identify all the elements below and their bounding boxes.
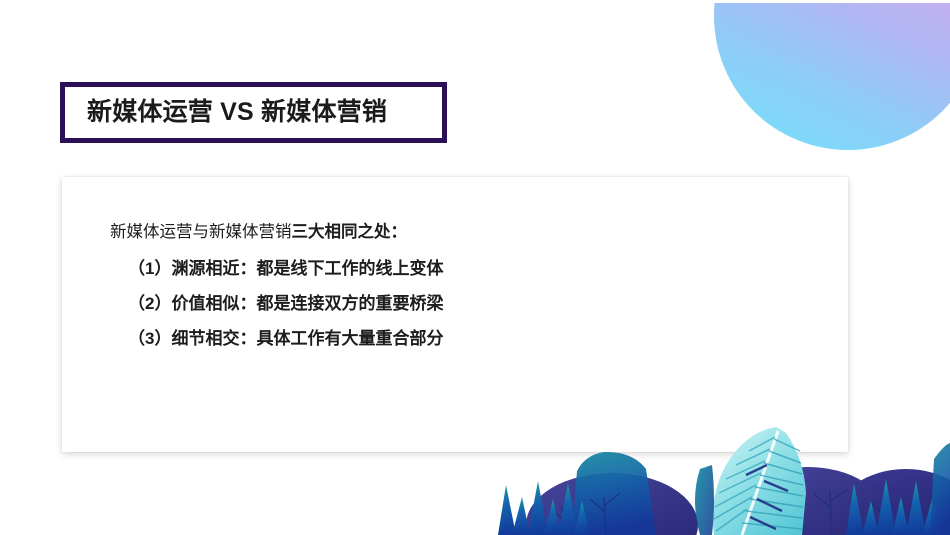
body-text-block: 新媒体运营与新媒体营销三大相同之处： （1）渊源相近：都是线下工作的线上变体 （… (110, 215, 810, 356)
bush-twigs-center (551, 493, 620, 535)
page-title: 新媒体运营 VS 新媒体营销 (87, 95, 422, 129)
content-card: 新媒体运营与新媒体营销三大相同之处： （1）渊源相近：都是线下工作的线上变体 （… (62, 177, 848, 452)
body-item-3: （3）细节相交：具体工作有大量重合部分 (110, 321, 810, 356)
body-lead-emphasis: 三大相同之处： (292, 223, 408, 241)
leaf-blade-left (572, 452, 656, 535)
bush-shape-right (834, 469, 950, 535)
bush-shape-center (526, 473, 698, 535)
grass-cluster-left (498, 481, 590, 535)
gradient-circle-decoration (690, 0, 950, 200)
bush-twigs-right (814, 489, 884, 535)
circle-top-mask (690, 0, 950, 3)
leaf-blade-far-right (930, 443, 950, 535)
body-lead-plain: 新媒体运营与新媒体营销 (110, 223, 292, 241)
body-item-2: （2）价值相似：都是连接双方的重要桥梁 (110, 286, 810, 321)
grass-cluster-right (846, 479, 942, 535)
body-lead-line: 新媒体运营与新媒体营销三大相同之处： (110, 215, 810, 249)
body-item-1: （1）渊源相近：都是线下工作的线上变体 (110, 251, 810, 286)
slide-canvas: 新媒体运营 VS 新媒体营销 新媒体运营与新媒体营销三大相同之处： （1）渊源相… (0, 0, 950, 535)
leaf-blade-behind (695, 465, 714, 535)
gradient-circle-shape (714, 0, 950, 150)
bush-shape-midright (730, 467, 886, 535)
